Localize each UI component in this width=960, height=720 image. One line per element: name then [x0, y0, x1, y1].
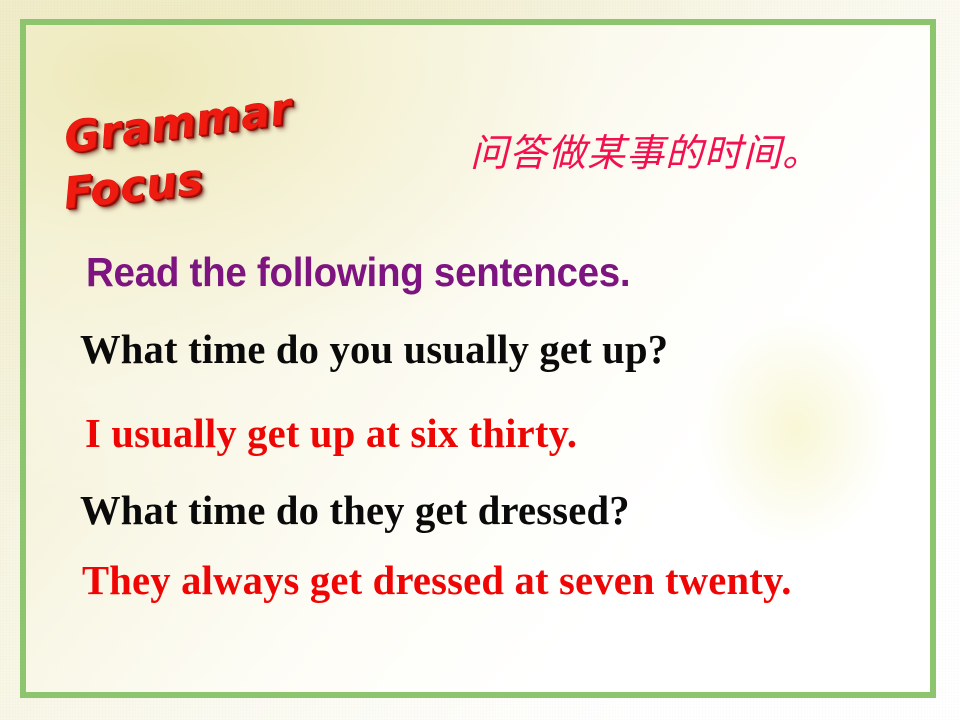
sentence-question-2: What time do they get dressed?: [80, 486, 630, 534]
sentence-answer-1: I usually get up at six thirty.: [85, 409, 577, 457]
wordart-line-grammar: Grammar: [62, 88, 295, 161]
instruction-text: Read the following sentences.: [86, 249, 630, 296]
sentence-answer-2: They always get dressed at seven twenty.: [82, 556, 792, 604]
slide-content: Grammar Focus 问答做某事的时间。 Read the followi…: [0, 0, 960, 720]
chinese-caption: 问答做某事的时间。: [470, 122, 821, 177]
grammar-focus-wordart: Grammar Focus: [62, 88, 302, 215]
sentence-question-1: What time do you usually get up?: [80, 325, 668, 373]
presentation-slide: Grammar Focus 问答做某事的时间。 Read the followi…: [0, 0, 960, 720]
